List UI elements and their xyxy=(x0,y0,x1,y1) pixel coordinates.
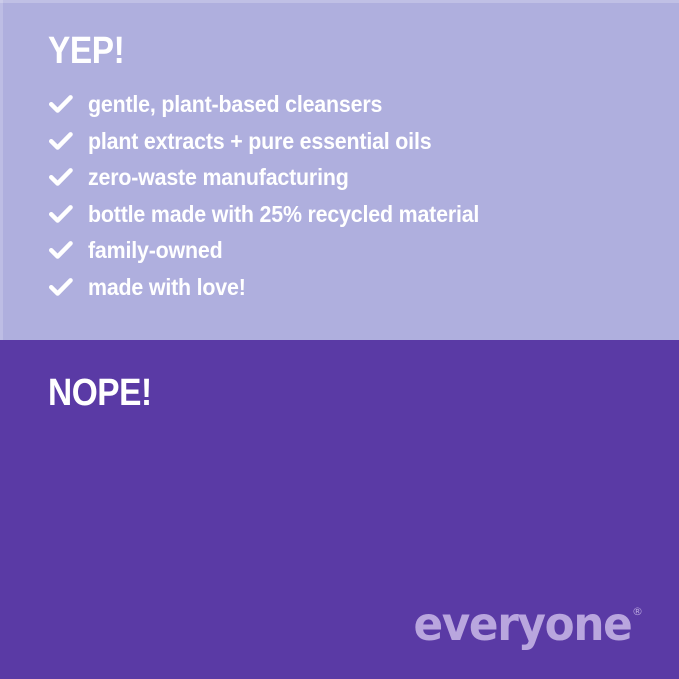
yep-benefit-list: gentle, plant-based cleansers plant extr… xyxy=(48,86,509,305)
list-item: bottle made with 25% recycled material xyxy=(48,196,509,233)
nope-panel-heading: NOPE! xyxy=(48,374,152,412)
list-item: made with love! xyxy=(48,269,509,306)
check-icon xyxy=(48,274,74,300)
yep-panel-heading: YEP! xyxy=(48,32,124,70)
list-item: plant extracts + pure essential oils xyxy=(48,123,509,160)
list-item: family-owned xyxy=(48,232,509,269)
benefit-text: made with love! xyxy=(88,274,246,300)
registered-trademark-icon: ® xyxy=(632,606,643,617)
benefit-text: gentle, plant-based cleansers xyxy=(88,91,382,117)
benefit-text: bottle made with 25% recycled material xyxy=(88,201,479,227)
check-icon xyxy=(48,201,74,227)
benefit-text: plant extracts + pure essential oils xyxy=(88,128,431,154)
check-icon xyxy=(48,164,74,190)
benefits-infographic: YEP! gentle, plant-based cleansers plant… xyxy=(0,0,679,679)
list-item: gentle, plant-based cleansers xyxy=(48,86,509,123)
check-icon xyxy=(48,91,74,117)
nope-panel: NOPE! no animal testing no parabens, dye… xyxy=(0,340,679,679)
benefit-text: zero-waste manufacturing xyxy=(88,164,349,190)
list-item: zero-waste manufacturing xyxy=(48,159,509,196)
check-icon xyxy=(48,237,74,263)
brand-logo: everyone ® xyxy=(402,601,643,647)
check-icon xyxy=(48,128,74,154)
brand-wordmark: everyone xyxy=(413,601,631,647)
benefit-text: family-owned xyxy=(88,237,222,263)
yep-panel: YEP! gentle, plant-based cleansers plant… xyxy=(0,0,679,340)
